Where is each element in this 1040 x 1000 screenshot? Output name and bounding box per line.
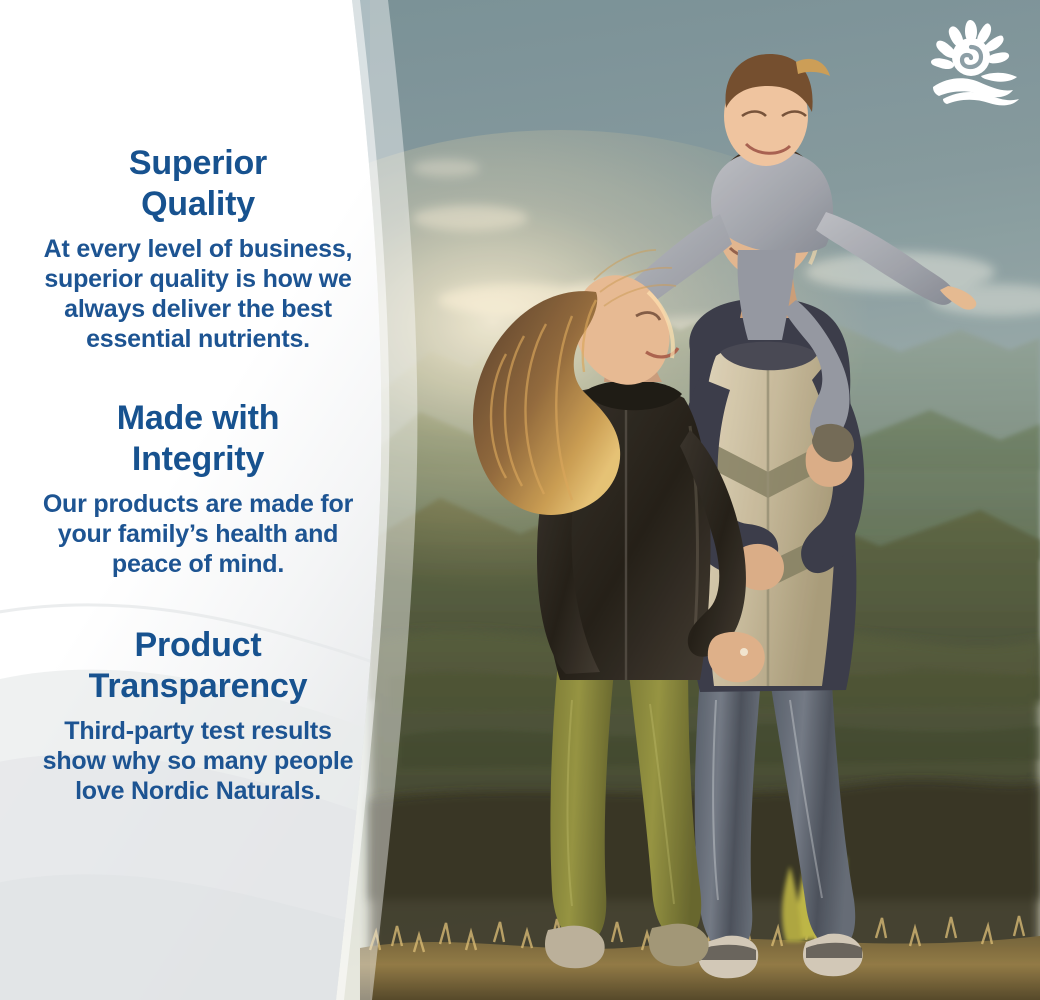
benefit-block-superior-quality: SuperiorQuality At every level of busine… [0,143,396,354]
benefit-block-product-transparency: ProductTransparency Third-party test res… [0,625,396,806]
benefit-body-3: Third-party test results show why so man… [0,716,396,806]
benefit-heading-1: SuperiorQuality [0,143,396,225]
benefit-body-1: At every level of business, superior qua… [0,234,396,354]
benefit-heading-2: Made withIntegrity [0,398,396,480]
sun-wave-logo-icon [921,14,1025,106]
nordic-naturals-logo-mark [921,14,1025,106]
benefit-body-2: Our products are made for your family’s … [0,489,396,579]
warm-haze [370,0,1040,1000]
benefit-block-made-with-integrity: Made withIntegrity Our products are made… [0,398,396,579]
benefit-heading-3: ProductTransparency [0,625,396,707]
benefits-text-column: SuperiorQuality At every level of busine… [0,0,396,1000]
